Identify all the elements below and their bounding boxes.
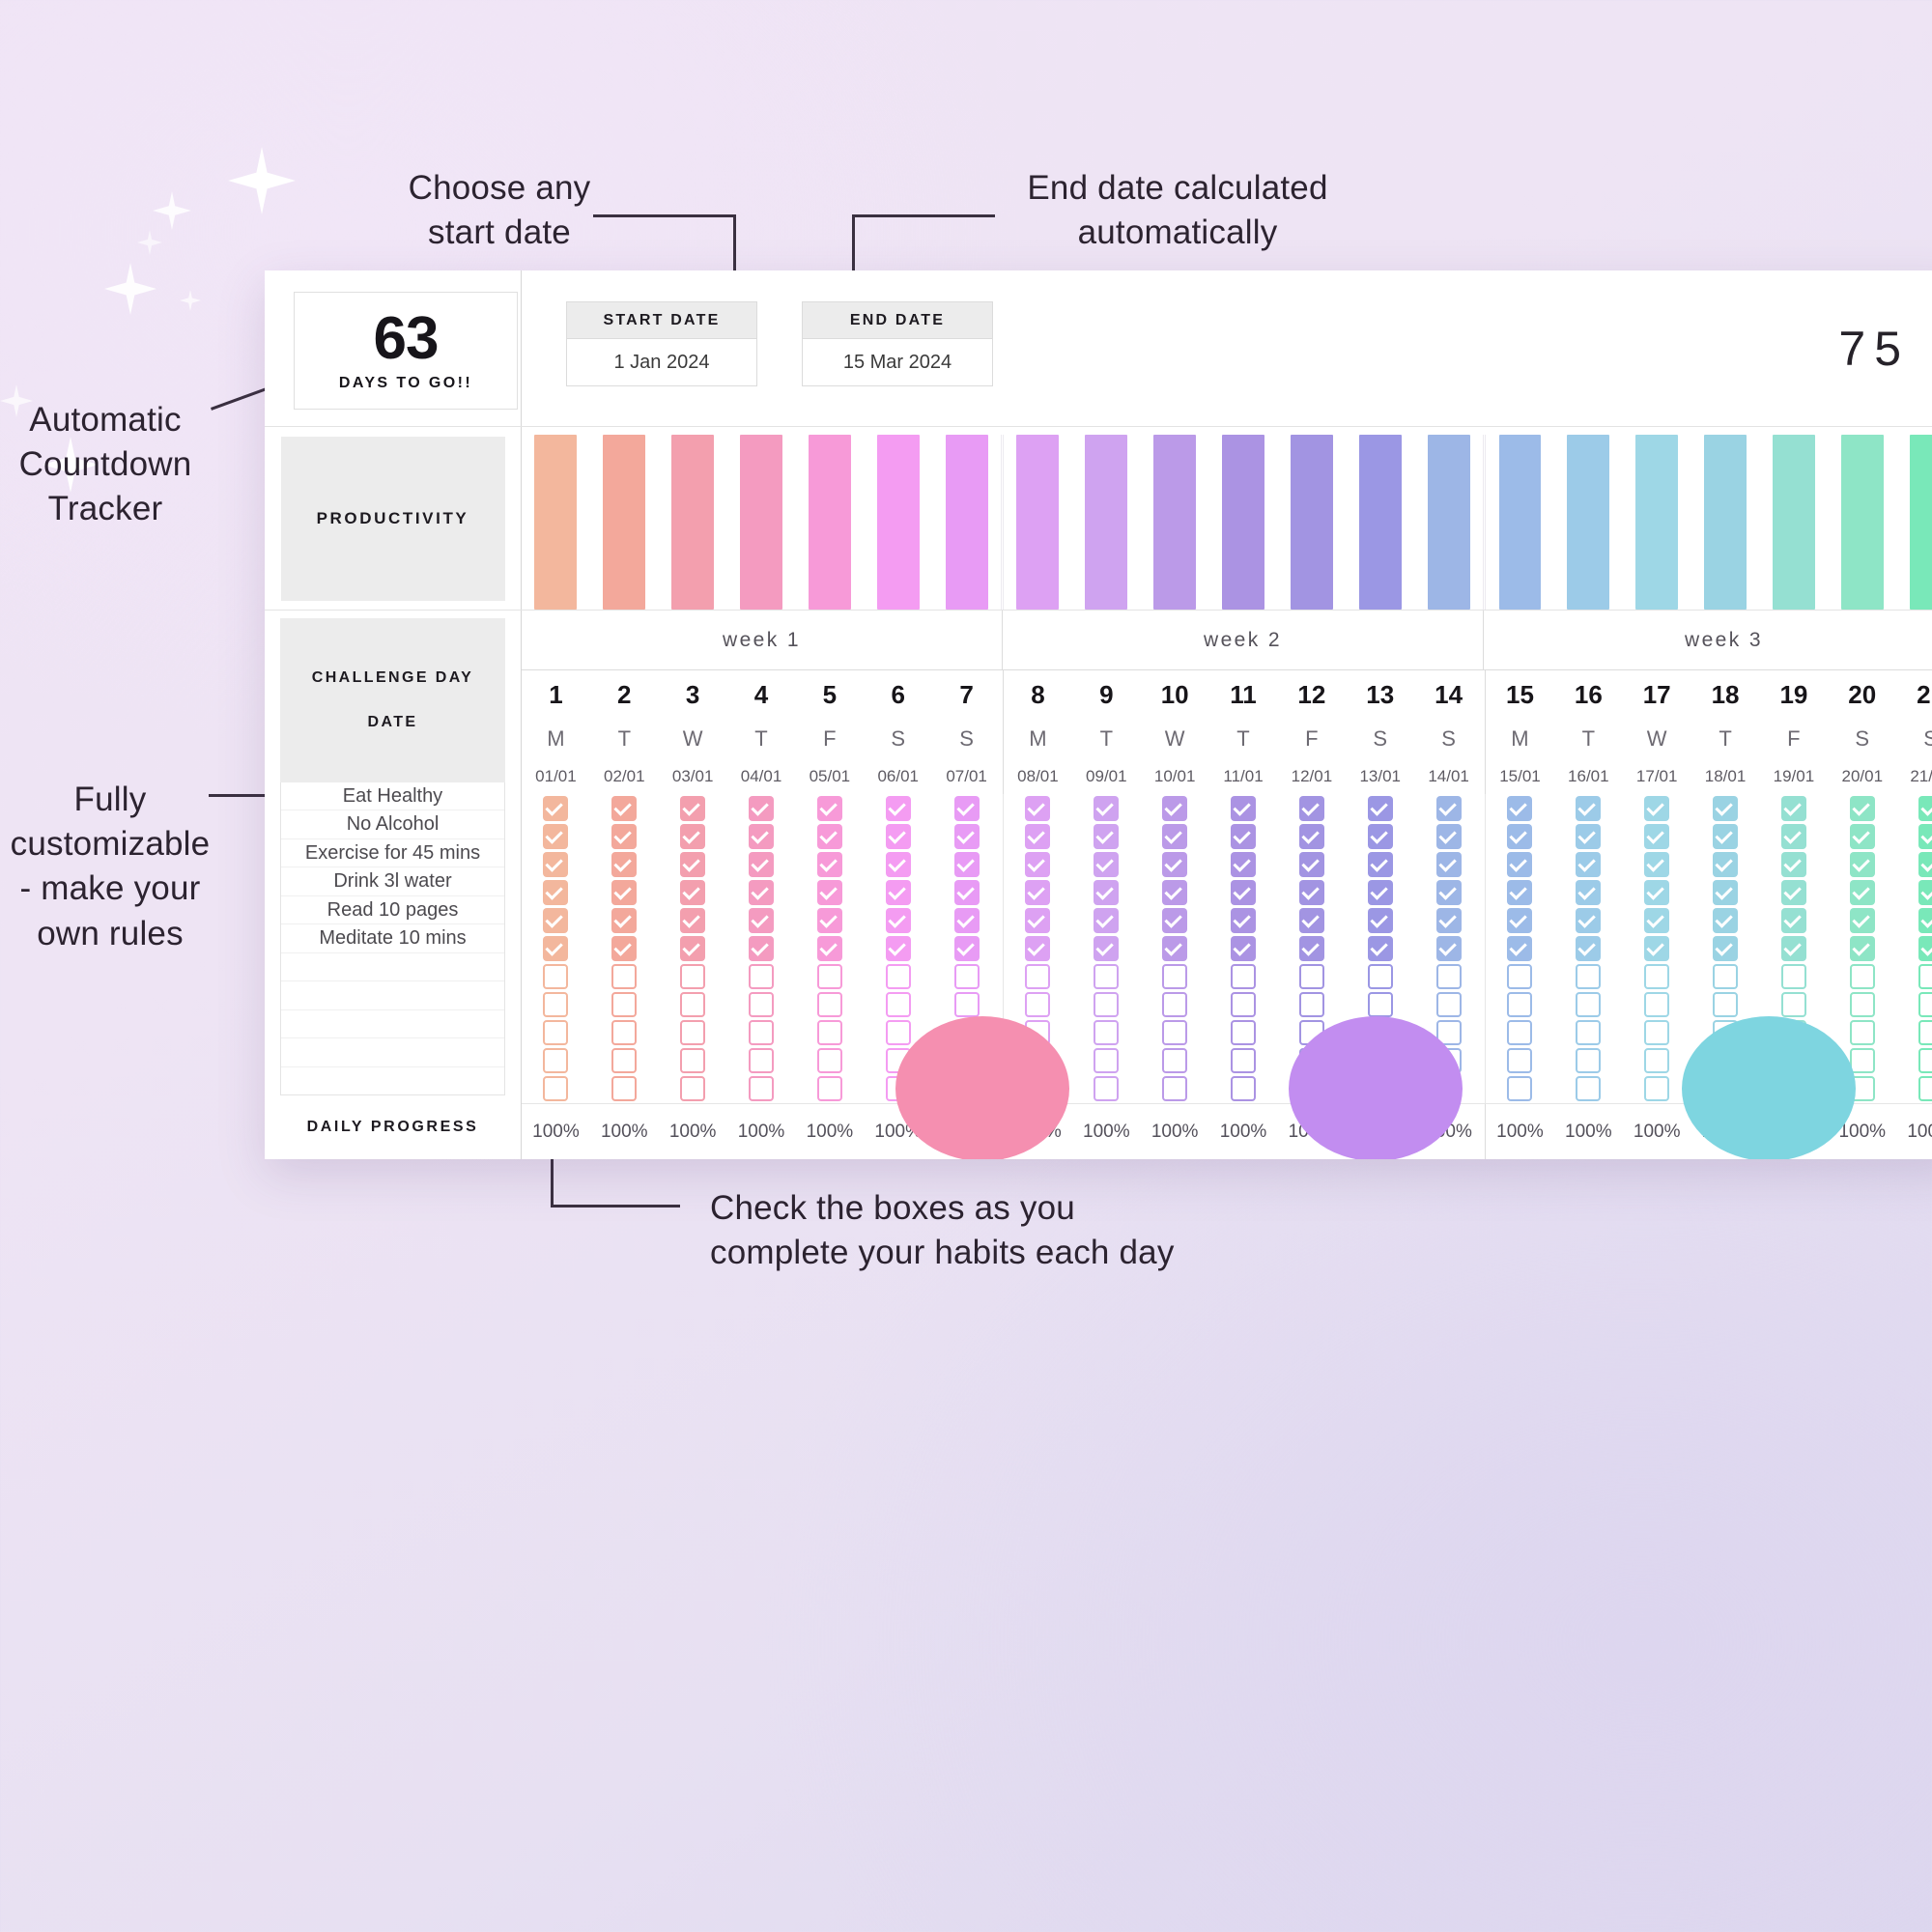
checkbox-checked-icon[interactable] <box>1918 908 1932 933</box>
checkbox-cell[interactable] <box>1713 1047 1738 1075</box>
checkbox-checked-icon[interactable] <box>1368 852 1393 877</box>
checkbox-cell[interactable] <box>1713 878 1738 906</box>
checkbox-empty-icon[interactable] <box>886 992 911 1017</box>
checkbox-cell[interactable] <box>1576 850 1601 878</box>
checkbox-cell[interactable] <box>1025 991 1050 1019</box>
checkbox-cell[interactable] <box>1781 878 1806 906</box>
checkbox-checked-icon[interactable] <box>817 908 842 933</box>
checkbox-checked-icon[interactable] <box>1025 880 1050 905</box>
checkbox-cell[interactable] <box>1436 850 1462 878</box>
checkbox-empty-icon[interactable] <box>1436 1048 1462 1073</box>
checkbox-checked-icon[interactable] <box>1162 852 1187 877</box>
checkbox-checked-icon[interactable] <box>1850 936 1875 961</box>
checkbox-cell[interactable] <box>817 878 842 906</box>
checkbox-cell[interactable] <box>1436 1075 1462 1103</box>
checkbox-empty-icon[interactable] <box>1231 1020 1256 1045</box>
checkbox-cell[interactable] <box>611 850 637 878</box>
checkbox-empty-icon[interactable] <box>749 1076 774 1101</box>
checkbox-cell[interactable] <box>611 1075 637 1103</box>
checkbox-empty-icon[interactable] <box>1094 1048 1119 1073</box>
checkbox-cell[interactable] <box>543 1019 568 1047</box>
checkbox-checked-icon[interactable] <box>1094 796 1119 821</box>
checkbox-cell[interactable] <box>1436 878 1462 906</box>
checkbox-empty-icon[interactable] <box>954 964 980 989</box>
checkbox-empty-icon[interactable] <box>1781 1076 1806 1101</box>
checkbox-checked-icon[interactable] <box>1781 824 1806 849</box>
checkbox-empty-icon[interactable] <box>1850 964 1875 989</box>
checkbox-cell[interactable] <box>1162 850 1187 878</box>
checkbox-checked-icon[interactable] <box>1299 880 1324 905</box>
checkbox-cell[interactable] <box>1644 822 1669 850</box>
checkbox-checked-icon[interactable] <box>543 852 568 877</box>
checkbox-cell[interactable] <box>1368 822 1393 850</box>
checkbox-checked-icon[interactable] <box>1231 908 1256 933</box>
checkbox-cell[interactable] <box>749 794 774 822</box>
checkbox-cell[interactable] <box>1507 906 1532 934</box>
checkbox-checked-icon[interactable] <box>886 796 911 821</box>
checkbox-cell[interactable] <box>1713 794 1738 822</box>
checkbox-empty-icon[interactable] <box>1231 1048 1256 1073</box>
checkbox-cell[interactable] <box>886 1047 911 1075</box>
checkbox-checked-icon[interactable] <box>817 824 842 849</box>
checkbox-empty-icon[interactable] <box>1850 1048 1875 1073</box>
checkbox-checked-icon[interactable] <box>1644 936 1669 961</box>
checkbox-checked-icon[interactable] <box>1644 796 1669 821</box>
checkbox-empty-icon[interactable] <box>886 1076 911 1101</box>
checkbox-cell[interactable] <box>611 963 637 991</box>
checkbox-checked-icon[interactable] <box>1781 908 1806 933</box>
checkbox-cell[interactable] <box>1850 1075 1875 1103</box>
checkbox-checked-icon[interactable] <box>1094 880 1119 905</box>
checkbox-cell[interactable] <box>817 934 842 962</box>
checkbox-checked-icon[interactable] <box>1025 936 1050 961</box>
checkbox-cell[interactable] <box>1094 822 1119 850</box>
start-date-value[interactable]: 1 Jan 2024 <box>567 339 756 385</box>
checkbox-empty-icon[interactable] <box>1162 992 1187 1017</box>
checkbox-checked-icon[interactable] <box>1644 852 1669 877</box>
checkbox-checked-icon[interactable] <box>1025 824 1050 849</box>
habit-name-cell[interactable]: No Alcohol <box>281 810 504 838</box>
checkbox-cell[interactable] <box>1094 906 1119 934</box>
checkbox-cell[interactable] <box>1299 878 1324 906</box>
checkbox-cell[interactable] <box>1025 878 1050 906</box>
checkbox-empty-icon[interactable] <box>1713 1048 1738 1073</box>
checkbox-empty-icon[interactable] <box>1025 992 1050 1017</box>
checkbox-checked-icon[interactable] <box>954 880 980 905</box>
checkbox-checked-icon[interactable] <box>954 824 980 849</box>
checkbox-checked-icon[interactable] <box>1436 824 1462 849</box>
checkbox-cell[interactable] <box>817 1019 842 1047</box>
checkbox-cell[interactable] <box>1025 1047 1050 1075</box>
checkbox-cell[interactable] <box>1299 963 1324 991</box>
checkbox-cell[interactable] <box>543 794 568 822</box>
checkbox-cell[interactable] <box>1231 878 1256 906</box>
checkbox-empty-icon[interactable] <box>1644 1076 1669 1101</box>
checkbox-cell[interactable] <box>1436 794 1462 822</box>
checkbox-cell[interactable] <box>1436 1019 1462 1047</box>
checkbox-empty-icon[interactable] <box>1644 1048 1669 1073</box>
checkbox-empty-icon[interactable] <box>886 1048 911 1073</box>
checkbox-cell[interactable] <box>886 1019 911 1047</box>
checkbox-checked-icon[interactable] <box>1576 908 1601 933</box>
checkbox-cell[interactable] <box>954 934 980 962</box>
checkbox-empty-icon[interactable] <box>1850 1020 1875 1045</box>
checkbox-cell[interactable] <box>954 850 980 878</box>
checkbox-checked-icon[interactable] <box>1507 824 1532 849</box>
checkbox-checked-icon[interactable] <box>886 908 911 933</box>
checkbox-empty-icon[interactable] <box>680 1020 705 1045</box>
checkbox-empty-icon[interactable] <box>611 992 637 1017</box>
checkbox-checked-icon[interactable] <box>817 880 842 905</box>
checkbox-grid[interactable] <box>522 794 1932 1103</box>
checkbox-empty-icon[interactable] <box>1918 1076 1932 1101</box>
checkbox-checked-icon[interactable] <box>1094 852 1119 877</box>
checkbox-checked-icon[interactable] <box>749 796 774 821</box>
checkbox-cell[interactable] <box>611 822 637 850</box>
checkbox-cell[interactable] <box>543 963 568 991</box>
checkbox-checked-icon[interactable] <box>1918 824 1932 849</box>
checkbox-checked-icon[interactable] <box>1094 824 1119 849</box>
checkbox-cell[interactable] <box>1576 963 1601 991</box>
checkbox-empty-icon[interactable] <box>1231 964 1256 989</box>
checkbox-checked-icon[interactable] <box>1368 880 1393 905</box>
checkbox-cell[interactable] <box>1850 850 1875 878</box>
checkbox-checked-icon[interactable] <box>1507 852 1532 877</box>
checkbox-cell[interactable] <box>1918 1047 1932 1075</box>
checkbox-cell[interactable] <box>1299 850 1324 878</box>
checkbox-checked-icon[interactable] <box>611 824 637 849</box>
checkbox-cell[interactable] <box>1713 934 1738 962</box>
checkbox-checked-icon[interactable] <box>1850 908 1875 933</box>
checkbox-empty-icon[interactable] <box>1436 964 1462 989</box>
checkbox-empty-icon[interactable] <box>1918 964 1932 989</box>
checkbox-empty-icon[interactable] <box>749 992 774 1017</box>
checkbox-checked-icon[interactable] <box>1162 880 1187 905</box>
checkbox-cell[interactable] <box>611 991 637 1019</box>
checkbox-cell[interactable] <box>1094 934 1119 962</box>
checkbox-cell[interactable] <box>817 850 842 878</box>
checkbox-cell[interactable] <box>1918 822 1932 850</box>
checkbox-empty-icon[interactable] <box>1368 1020 1393 1045</box>
checkbox-checked-icon[interactable] <box>1713 824 1738 849</box>
checkbox-cell[interactable] <box>1507 1047 1532 1075</box>
checkbox-cell[interactable] <box>1162 1019 1187 1047</box>
checkbox-checked-icon[interactable] <box>611 880 637 905</box>
checkbox-empty-icon[interactable] <box>1025 1020 1050 1045</box>
habit-name-cell[interactable]: Drink 3l water <box>281 867 504 895</box>
checkbox-cell[interactable] <box>954 822 980 850</box>
checkbox-checked-icon[interactable] <box>1918 936 1932 961</box>
checkbox-cell[interactable] <box>1644 850 1669 878</box>
checkbox-checked-icon[interactable] <box>1781 796 1806 821</box>
checkbox-cell[interactable] <box>1507 991 1532 1019</box>
checkbox-checked-icon[interactable] <box>1576 936 1601 961</box>
checkbox-cell[interactable] <box>1576 1047 1601 1075</box>
checkbox-cell[interactable] <box>1713 906 1738 934</box>
checkbox-empty-icon[interactable] <box>1368 1048 1393 1073</box>
checkbox-checked-icon[interactable] <box>1231 796 1256 821</box>
checkbox-cell[interactable] <box>1094 1047 1119 1075</box>
checkbox-checked-icon[interactable] <box>749 852 774 877</box>
checkbox-empty-icon[interactable] <box>543 1076 568 1101</box>
checkbox-cell[interactable] <box>749 850 774 878</box>
checkbox-empty-icon[interactable] <box>1507 1076 1532 1101</box>
checkbox-empty-icon[interactable] <box>1299 1048 1324 1073</box>
checkbox-cell[interactable] <box>1368 878 1393 906</box>
checkbox-empty-icon[interactable] <box>543 992 568 1017</box>
checkbox-cell[interactable] <box>817 794 842 822</box>
checkbox-checked-icon[interactable] <box>1162 824 1187 849</box>
checkbox-cell[interactable] <box>543 822 568 850</box>
checkbox-checked-icon[interactable] <box>1094 936 1119 961</box>
checkbox-cell[interactable] <box>1507 963 1532 991</box>
checkbox-cell[interactable] <box>1162 906 1187 934</box>
checkbox-cell[interactable] <box>543 850 568 878</box>
checkbox-cell[interactable] <box>680 906 705 934</box>
checkbox-empty-icon[interactable] <box>749 964 774 989</box>
checkbox-checked-icon[interactable] <box>543 824 568 849</box>
checkbox-empty-icon[interactable] <box>1576 1076 1601 1101</box>
checkbox-cell[interactable] <box>1299 1075 1324 1103</box>
checkbox-cell[interactable] <box>749 878 774 906</box>
checkbox-checked-icon[interactable] <box>1781 936 1806 961</box>
checkbox-empty-icon[interactable] <box>886 964 911 989</box>
checkbox-checked-icon[interactable] <box>1368 796 1393 821</box>
checkbox-cell[interactable] <box>1576 906 1601 934</box>
checkbox-cell[interactable] <box>1850 1047 1875 1075</box>
checkbox-checked-icon[interactable] <box>954 796 980 821</box>
checkbox-checked-icon[interactable] <box>1576 852 1601 877</box>
checkbox-checked-icon[interactable] <box>543 936 568 961</box>
checkbox-checked-icon[interactable] <box>886 936 911 961</box>
checkbox-empty-icon[interactable] <box>1231 992 1256 1017</box>
checkbox-cell[interactable] <box>749 822 774 850</box>
checkbox-cell[interactable] <box>1299 822 1324 850</box>
checkbox-checked-icon[interactable] <box>1507 796 1532 821</box>
checkbox-empty-icon[interactable] <box>1644 964 1669 989</box>
checkbox-empty-icon[interactable] <box>1436 992 1462 1017</box>
checkbox-empty-icon[interactable] <box>1094 964 1119 989</box>
checkbox-cell[interactable] <box>954 963 980 991</box>
checkbox-empty-icon[interactable] <box>749 1020 774 1045</box>
checkbox-empty-icon[interactable] <box>1094 1020 1119 1045</box>
habit-name-cell[interactable] <box>281 1010 504 1038</box>
checkbox-checked-icon[interactable] <box>1436 936 1462 961</box>
checkbox-cell[interactable] <box>1781 991 1806 1019</box>
checkbox-empty-icon[interactable] <box>611 1020 637 1045</box>
checkbox-empty-icon[interactable] <box>1025 1076 1050 1101</box>
checkbox-cell[interactable] <box>749 1047 774 1075</box>
checkbox-cell[interactable] <box>1299 1047 1324 1075</box>
checkbox-empty-icon[interactable] <box>543 964 568 989</box>
checkbox-cell[interactable] <box>1507 794 1532 822</box>
checkbox-cell[interactable] <box>954 878 980 906</box>
checkbox-cell[interactable] <box>1299 1019 1324 1047</box>
checkbox-empty-icon[interactable] <box>954 1048 980 1073</box>
checkbox-empty-icon[interactable] <box>1713 1020 1738 1045</box>
checkbox-checked-icon[interactable] <box>1231 880 1256 905</box>
checkbox-cell[interactable] <box>1162 822 1187 850</box>
checkbox-checked-icon[interactable] <box>1507 936 1532 961</box>
checkbox-cell[interactable] <box>1781 794 1806 822</box>
checkbox-empty-icon[interactable] <box>1918 992 1932 1017</box>
checkbox-empty-icon[interactable] <box>1644 1020 1669 1045</box>
checkbox-empty-icon[interactable] <box>1918 1048 1932 1073</box>
checkbox-cell[interactable] <box>1231 1075 1256 1103</box>
checkbox-cell[interactable] <box>1299 991 1324 1019</box>
checkbox-cell[interactable] <box>1850 991 1875 1019</box>
checkbox-empty-icon[interactable] <box>954 1020 980 1045</box>
checkbox-cell[interactable] <box>1231 934 1256 962</box>
checkbox-empty-icon[interactable] <box>1713 1076 1738 1101</box>
checkbox-empty-icon[interactable] <box>1507 992 1532 1017</box>
checkbox-cell[interactable] <box>1576 934 1601 962</box>
checkbox-empty-icon[interactable] <box>1507 1048 1532 1073</box>
checkbox-empty-icon[interactable] <box>1576 964 1601 989</box>
checkbox-cell[interactable] <box>1094 878 1119 906</box>
checkbox-cell[interactable] <box>954 906 980 934</box>
checkbox-checked-icon[interactable] <box>1094 908 1119 933</box>
checkbox-cell[interactable] <box>749 906 774 934</box>
checkbox-cell[interactable] <box>1713 963 1738 991</box>
checkbox-cell[interactable] <box>1850 878 1875 906</box>
checkbox-checked-icon[interactable] <box>954 936 980 961</box>
checkbox-cell[interactable] <box>1850 1019 1875 1047</box>
checkbox-checked-icon[interactable] <box>1436 796 1462 821</box>
checkbox-cell[interactable] <box>817 1047 842 1075</box>
checkbox-empty-icon[interactable] <box>680 964 705 989</box>
checkbox-cell[interactable] <box>611 934 637 962</box>
checkbox-checked-icon[interactable] <box>1644 824 1669 849</box>
checkbox-cell[interactable] <box>1507 934 1532 962</box>
checkbox-checked-icon[interactable] <box>1299 824 1324 849</box>
checkbox-cell[interactable] <box>1025 934 1050 962</box>
checkbox-checked-icon[interactable] <box>954 908 980 933</box>
checkbox-empty-icon[interactable] <box>1644 992 1669 1017</box>
checkbox-checked-icon[interactable] <box>680 908 705 933</box>
checkbox-checked-icon[interactable] <box>1507 880 1532 905</box>
checkbox-cell[interactable] <box>1644 934 1669 962</box>
checkbox-empty-icon[interactable] <box>954 992 980 1017</box>
checkbox-empty-icon[interactable] <box>1162 1076 1187 1101</box>
checkbox-cell[interactable] <box>1094 991 1119 1019</box>
checkbox-cell[interactable] <box>1094 850 1119 878</box>
checkbox-cell[interactable] <box>1713 1075 1738 1103</box>
checkbox-cell[interactable] <box>1644 906 1669 934</box>
checkbox-cell[interactable] <box>1644 1019 1669 1047</box>
checkbox-cell[interactable] <box>1918 878 1932 906</box>
checkbox-cell[interactable] <box>1368 906 1393 934</box>
checkbox-checked-icon[interactable] <box>1918 880 1932 905</box>
checkbox-checked-icon[interactable] <box>1850 852 1875 877</box>
checkbox-cell[interactable] <box>611 1047 637 1075</box>
checkbox-cell[interactable] <box>1644 1075 1669 1103</box>
checkbox-checked-icon[interactable] <box>1436 880 1462 905</box>
habit-name-cell[interactable] <box>281 1067 504 1094</box>
checkbox-cell[interactable] <box>680 991 705 1019</box>
checkbox-cell[interactable] <box>1781 822 1806 850</box>
checkbox-checked-icon[interactable] <box>886 880 911 905</box>
checkbox-cell[interactable] <box>611 794 637 822</box>
checkbox-cell[interactable] <box>1368 963 1393 991</box>
checkbox-checked-icon[interactable] <box>1850 796 1875 821</box>
checkbox-empty-icon[interactable] <box>1368 992 1393 1017</box>
checkbox-empty-icon[interactable] <box>680 1048 705 1073</box>
checkbox-cell[interactable] <box>1644 794 1669 822</box>
checkbox-cell[interactable] <box>1436 963 1462 991</box>
checkbox-cell[interactable] <box>886 878 911 906</box>
checkbox-empty-icon[interactable] <box>1781 964 1806 989</box>
checkbox-cell[interactable] <box>680 794 705 822</box>
checkbox-cell[interactable] <box>1713 1019 1738 1047</box>
checkbox-cell[interactable] <box>680 1019 705 1047</box>
checkbox-empty-icon[interactable] <box>1025 964 1050 989</box>
checkbox-empty-icon[interactable] <box>1162 1048 1187 1073</box>
checkbox-cell[interactable] <box>1436 934 1462 962</box>
checkbox-empty-icon[interactable] <box>1576 992 1601 1017</box>
checkbox-checked-icon[interactable] <box>954 852 980 877</box>
checkbox-cell[interactable] <box>1231 1047 1256 1075</box>
checkbox-cell[interactable] <box>1781 1047 1806 1075</box>
checkbox-checked-icon[interactable] <box>1713 880 1738 905</box>
checkbox-empty-icon[interactable] <box>1781 1048 1806 1073</box>
checkbox-empty-icon[interactable] <box>1850 992 1875 1017</box>
checkbox-cell[interactable] <box>886 822 911 850</box>
checkbox-cell[interactable] <box>954 794 980 822</box>
checkbox-checked-icon[interactable] <box>1299 852 1324 877</box>
checkbox-empty-icon[interactable] <box>1781 1020 1806 1045</box>
checkbox-cell[interactable] <box>1850 794 1875 822</box>
checkbox-empty-icon[interactable] <box>680 1076 705 1101</box>
checkbox-cell[interactable] <box>680 822 705 850</box>
checkbox-cell[interactable] <box>1507 822 1532 850</box>
habit-name-cell[interactable] <box>281 981 504 1009</box>
checkbox-cell[interactable] <box>1231 794 1256 822</box>
checkbox-checked-icon[interactable] <box>1162 796 1187 821</box>
checkbox-cell[interactable] <box>1918 850 1932 878</box>
checkbox-cell[interactable] <box>680 934 705 962</box>
checkbox-checked-icon[interactable] <box>1368 824 1393 849</box>
checkbox-cell[interactable] <box>1644 878 1669 906</box>
checkbox-checked-icon[interactable] <box>886 852 911 877</box>
checkbox-checked-icon[interactable] <box>1436 908 1462 933</box>
checkbox-empty-icon[interactable] <box>1576 1048 1601 1073</box>
checkbox-checked-icon[interactable] <box>1162 936 1187 961</box>
checkbox-cell[interactable] <box>1713 822 1738 850</box>
checkbox-cell[interactable] <box>1162 878 1187 906</box>
checkbox-empty-icon[interactable] <box>1299 964 1324 989</box>
checkbox-empty-icon[interactable] <box>1713 964 1738 989</box>
checkbox-empty-icon[interactable] <box>680 992 705 1017</box>
checkbox-cell[interactable] <box>1576 822 1601 850</box>
checkbox-cell[interactable] <box>1094 1019 1119 1047</box>
checkbox-cell[interactable] <box>1299 906 1324 934</box>
checkbox-cell[interactable] <box>886 1075 911 1103</box>
checkbox-checked-icon[interactable] <box>680 852 705 877</box>
checkbox-checked-icon[interactable] <box>1850 880 1875 905</box>
checkbox-cell[interactable] <box>749 1019 774 1047</box>
habit-name-cell[interactable] <box>281 953 504 981</box>
checkbox-cell[interactable] <box>1781 1075 1806 1103</box>
checkbox-empty-icon[interactable] <box>1713 992 1738 1017</box>
checkbox-cell[interactable] <box>886 963 911 991</box>
checkbox-cell[interactable] <box>1025 1075 1050 1103</box>
checkbox-cell[interactable] <box>1507 1019 1532 1047</box>
checkbox-empty-icon[interactable] <box>1781 992 1806 1017</box>
checkbox-cell[interactable] <box>1781 1019 1806 1047</box>
checkbox-cell[interactable] <box>543 878 568 906</box>
checkbox-cell[interactable] <box>680 963 705 991</box>
